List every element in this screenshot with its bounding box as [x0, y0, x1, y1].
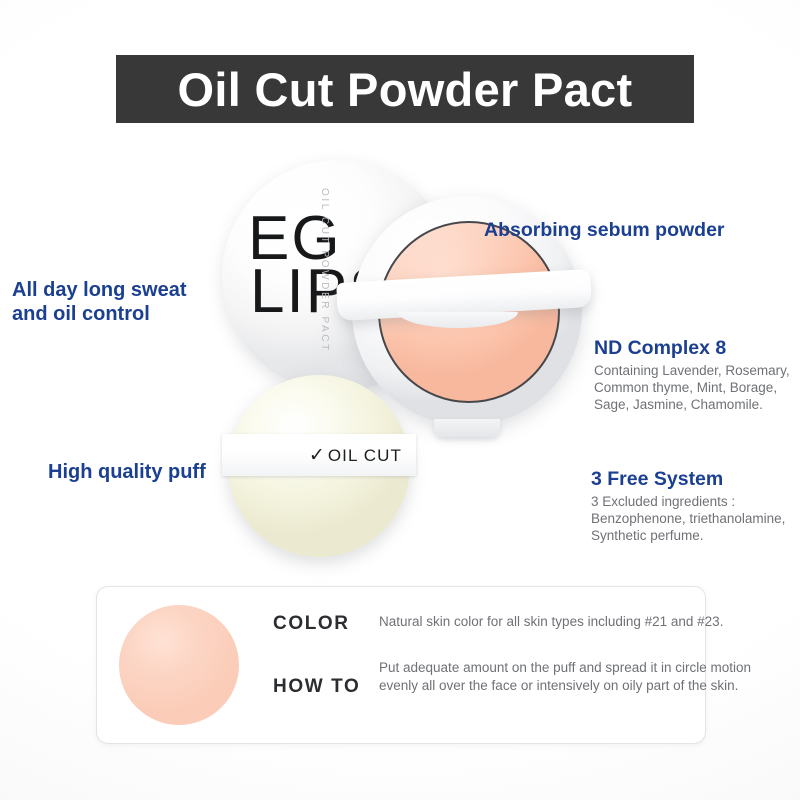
info-text-how-to: Put adequate amount on the puff and spre… — [379, 659, 777, 698]
color-swatch — [119, 605, 239, 725]
case-clasp — [434, 419, 500, 437]
lid-vertical-text: OIL CUT POWDER PACT — [319, 188, 330, 353]
annotation-high-quality-puff: High quality puff — [48, 460, 206, 484]
infographic-canvas: Oil Cut Powder Pact EG LIPS OIL CUT POWD… — [0, 0, 800, 800]
page-title: Oil Cut Powder Pact — [178, 66, 633, 113]
annotation-free-system-heading: 3 Free System — [591, 468, 723, 492]
puff-band-text: OIL CUT — [328, 446, 402, 465]
info-row-how-to: HOW TO Put adequate amount on the puff a… — [273, 659, 777, 698]
check-icon: ✓ — [309, 445, 326, 466]
powder-puff: ✓OIL CUT — [228, 375, 410, 557]
annotation-all-day-control: All day long sweat and oil control — [12, 278, 186, 327]
puff-band-label: ✓OIL CUT — [309, 444, 402, 467]
info-label-color: COLOR — [273, 613, 369, 635]
info-label-how-to: HOW TO — [273, 659, 369, 698]
annotation-free-system-body: 3 Excluded ingredients : Benzophenone, t… — [591, 493, 785, 544]
puff-ribbon-band: ✓OIL CUT — [222, 434, 416, 476]
annotation-nd-complex-body: Containing Lavender, Rosemary, Common th… — [594, 362, 790, 413]
page-title-banner: Oil Cut Powder Pact — [116, 55, 694, 123]
annotation-nd-complex-heading: ND Complex 8 — [594, 337, 726, 361]
info-text-color: Natural skin color for all skin types in… — [379, 613, 777, 635]
annotation-absorbing-sebum: Absorbing sebum powder — [484, 219, 725, 243]
product-info-panel: COLOR Natural skin color for all skin ty… — [96, 586, 706, 744]
info-row-color: COLOR Natural skin color for all skin ty… — [273, 613, 777, 635]
